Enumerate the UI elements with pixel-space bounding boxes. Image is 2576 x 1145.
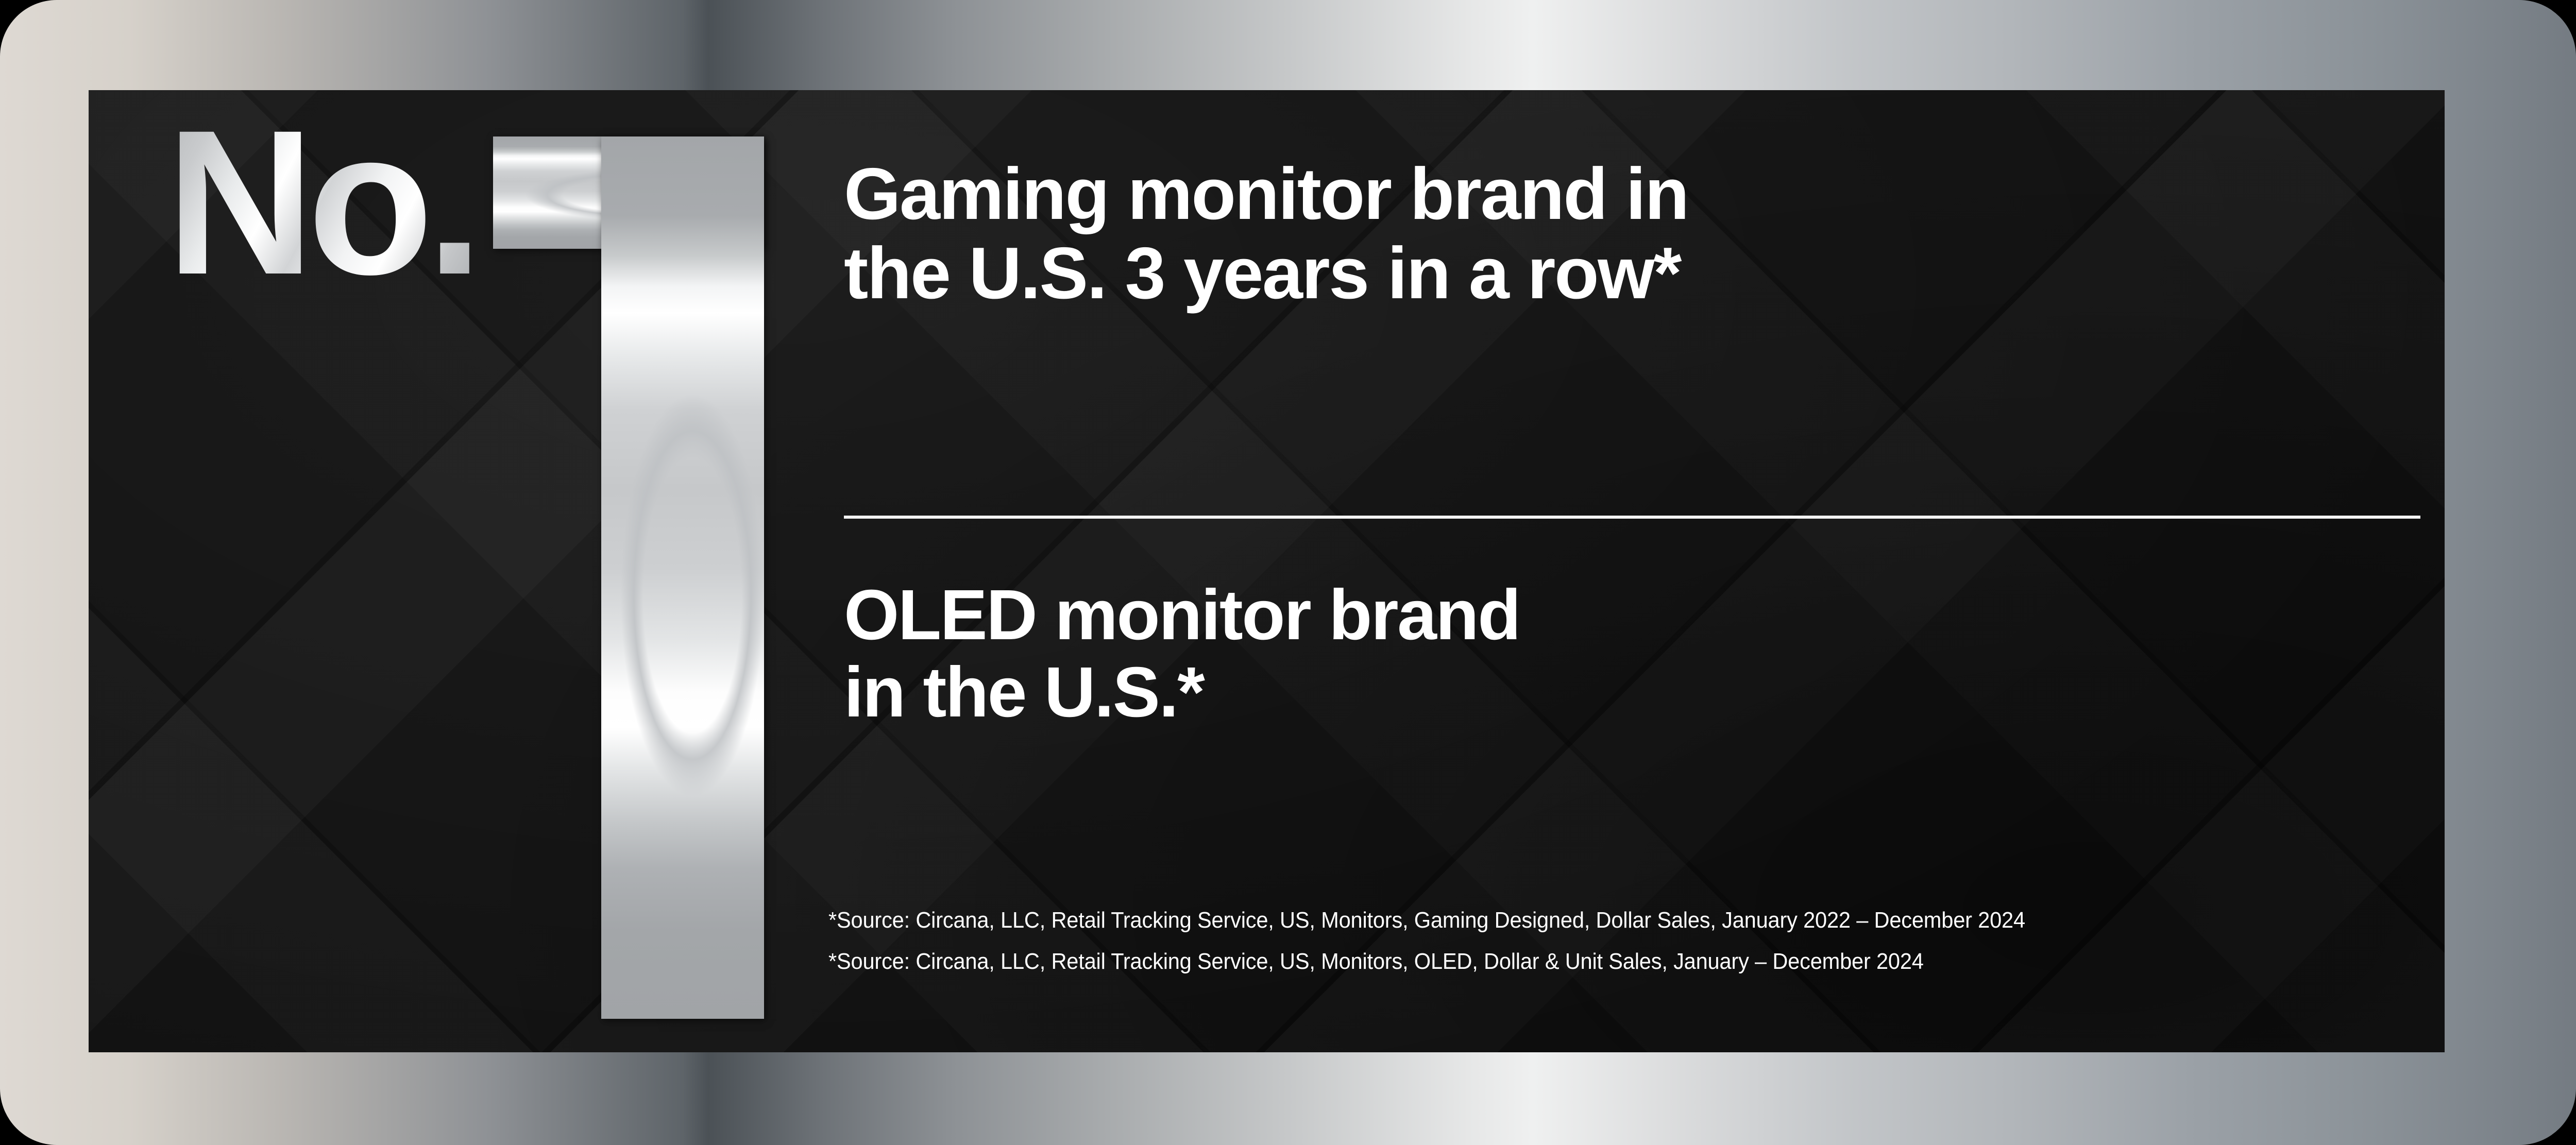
- footnote-gaming-source: *Source: Circana, LLC, Retail Tracking S…: [828, 909, 2362, 932]
- headline-divider: [844, 516, 2420, 519]
- numeral-one-stem: [601, 136, 764, 1019]
- content-panel: No. Gaming monitor brand in the U.S. 3 y…: [89, 90, 2445, 1052]
- text-column: Gaming monitor brand in the U.S. 3 years…: [844, 90, 2420, 1052]
- headline-oled-monitor: OLED monitor brand in the U.S.*: [844, 577, 1520, 731]
- rank-prefix-label: No.: [166, 99, 476, 305]
- footnote-oled-source: *Source: Circana, LLC, Retail Tracking S…: [828, 950, 2362, 973]
- rank-numeral-one: [493, 136, 764, 1019]
- headline-gaming-monitor: Gaming monitor brand in the U.S. 3 years…: [844, 155, 1688, 313]
- footnote-list: *Source: Circana, LLC, Retail Tracking S…: [828, 909, 2445, 992]
- promo-banner: No. Gaming monitor brand in the U.S. 3 y…: [0, 0, 2576, 1145]
